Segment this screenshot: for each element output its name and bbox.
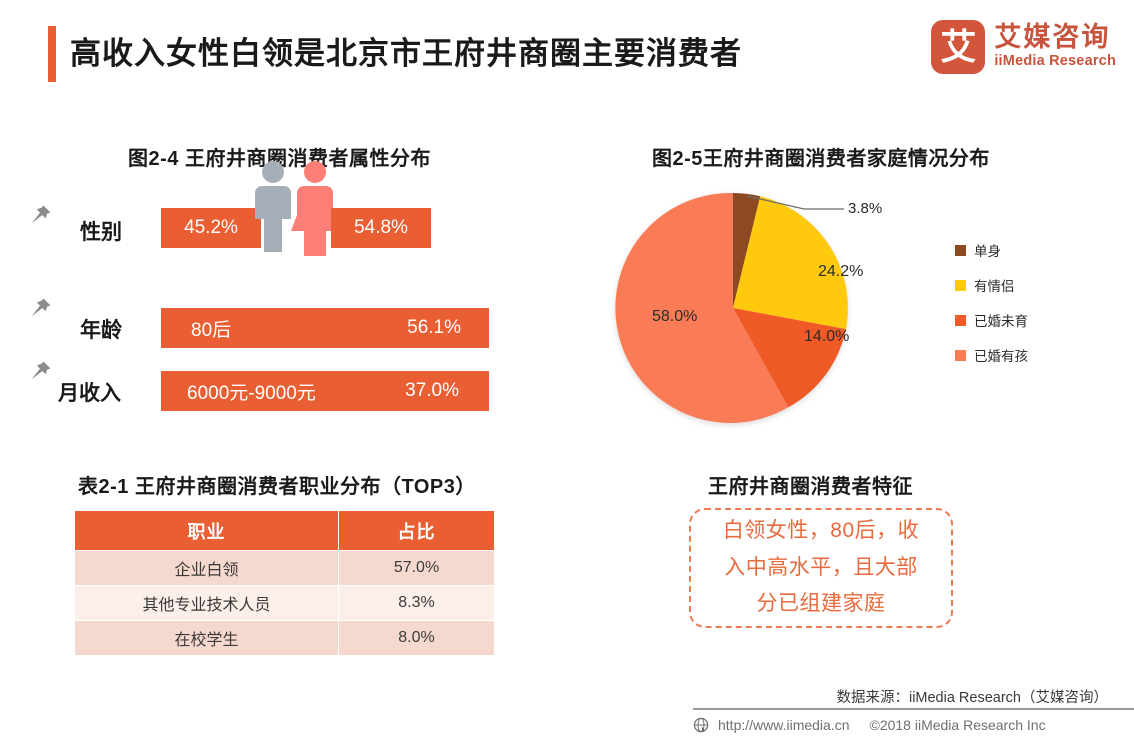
feature-line-2: 入中高水平，且大部 bbox=[723, 550, 919, 587]
attribute-label-income: 月收入 bbox=[58, 377, 121, 407]
logo-name-cn: 艾媒咨询 bbox=[994, 23, 1116, 53]
legend-item-married-no-kids: 已婚未育 bbox=[955, 310, 1028, 330]
consumer-feature-section: 王府井商圈消费者特征 白领女性，80后，收 入中高水平，且大部 分已组建家庭 bbox=[580, 462, 1134, 672]
cell-occupation: 企业白领 bbox=[75, 551, 339, 586]
cell-occupation: 其他专业技术人员 bbox=[75, 586, 339, 621]
brand-logo: 艾 艾媒咨询 iiMedia Research bbox=[931, 20, 1116, 74]
column-header-occupation: 职业 bbox=[75, 511, 339, 551]
gender-male-value: 45.2% bbox=[184, 217, 238, 239]
cell-occupation: 在校学生 bbox=[75, 621, 339, 656]
attribute-label-gender: 性别 bbox=[80, 216, 122, 246]
pie-value-married-no-kids: 14.0% bbox=[804, 328, 849, 346]
occupation-table-section: 表2-1 王府井商圈消费者职业分布（TOP3） 职业 占比 企业白领 57.0%… bbox=[0, 462, 560, 672]
feature-line-3: 分已组建家庭 bbox=[723, 586, 919, 623]
attribute-label-age: 年龄 bbox=[80, 314, 122, 344]
pushpin-icon bbox=[28, 202, 54, 228]
cell-share: 57.0% bbox=[339, 551, 495, 586]
legend-item-married-with-kids: 已婚有孩 bbox=[955, 345, 1028, 365]
legend-label: 已婚有孩 bbox=[974, 345, 1028, 365]
income-value-bar: 6000元-9000元 37.0% bbox=[161, 371, 489, 411]
logo-name-en: iiMedia Research bbox=[994, 53, 1116, 70]
legend-item-couple: 有情侣 bbox=[955, 275, 1028, 295]
gender-female-value-bar: 54.8% bbox=[331, 208, 431, 248]
table-row: 企业白领 57.0% bbox=[75, 551, 495, 586]
feature-callout-box: 白领女性，80后，收 入中高水平，且大部 分已组建家庭 bbox=[689, 508, 953, 628]
legend-label: 单身 bbox=[974, 240, 1001, 260]
pushpin-icon bbox=[28, 358, 54, 384]
logo-text: 艾媒咨询 iiMedia Research bbox=[994, 23, 1116, 70]
gender-female-value: 54.8% bbox=[354, 217, 408, 239]
column-header-share: 占比 bbox=[339, 511, 495, 551]
data-source-note: 数据来源：iiMedia Research（艾媒咨询） bbox=[836, 686, 1108, 707]
occupation-table-title: 表2-1 王府井商圈消费者职业分布（TOP3） bbox=[78, 470, 476, 499]
pie-value-married-with-kids: 58.0% bbox=[652, 308, 697, 326]
pie-chart-title: 图2-5王府井商圈消费者家庭情况分布 bbox=[652, 142, 990, 171]
legend-swatch-icon bbox=[955, 350, 966, 361]
pushpin-icon bbox=[28, 295, 54, 321]
consumer-attributes-section: 图2-4 王府井商圈消费者属性分布 性别 45.2% bbox=[0, 130, 560, 450]
legend-swatch-icon bbox=[955, 315, 966, 326]
pie-value-couple: 24.2% bbox=[818, 263, 863, 281]
pie-slices bbox=[615, 193, 848, 423]
legend-swatch-icon bbox=[955, 245, 966, 256]
cell-share: 8.0% bbox=[339, 621, 495, 656]
table-row: 其他专业技术人员 8.3% bbox=[75, 586, 495, 621]
footer-url[interactable]: http://www.iimedia.cn bbox=[718, 717, 850, 733]
gender-figures bbox=[253, 160, 337, 256]
table-row: 在校学生 8.0% bbox=[75, 621, 495, 656]
occupation-table: 职业 占比 企业白领 57.0% 其他专业技术人员 8.3% 在校学生 8.0% bbox=[74, 510, 495, 656]
male-figure-icon bbox=[255, 161, 291, 252]
legend-label: 有情侣 bbox=[974, 275, 1015, 295]
logo-mark-icon: 艾 bbox=[931, 20, 985, 74]
income-category: 6000元-9000元 bbox=[187, 378, 316, 405]
gender-male-value-bar: 45.2% bbox=[161, 208, 261, 248]
feature-line-1: 白领女性，80后，收 bbox=[723, 513, 919, 550]
legend-item-single: 单身 bbox=[955, 240, 1028, 260]
pie-value-single: 3.8% bbox=[848, 200, 882, 217]
legend-swatch-icon bbox=[955, 280, 966, 291]
pie-legend: 单身 有情侣 已婚未育 已婚有孩 bbox=[955, 240, 1028, 380]
page-header: 高收入女性白领是北京市王府井商圈主要消费者 艾 艾媒咨询 iiMedia Res… bbox=[0, 0, 1134, 108]
age-category: 80后 bbox=[191, 315, 231, 342]
pie-chart: 24.2% 14.0% 58.0% 3.8% bbox=[608, 178, 938, 438]
family-status-pie-section: 图2-5王府井商圈消费者家庭情况分布 24.2% bbox=[580, 130, 1134, 450]
legend-label: 已婚未育 bbox=[974, 310, 1028, 330]
footer-divider bbox=[693, 708, 1134, 710]
table-header-row: 职业 占比 bbox=[75, 511, 495, 551]
footer-bar: http://www.iimedia.cn ©2018 iiMedia Rese… bbox=[693, 713, 1134, 737]
title-accent-bar bbox=[48, 26, 56, 82]
footer-copyright: ©2018 iiMedia Research Inc bbox=[870, 717, 1046, 733]
age-value: 56.1% bbox=[407, 317, 461, 339]
feature-text: 白领女性，80后，收 入中高水平，且大部 分已组建家庭 bbox=[723, 513, 919, 623]
income-value: 37.0% bbox=[405, 380, 459, 402]
age-value-bar: 80后 56.1% bbox=[161, 308, 489, 348]
cell-share: 8.3% bbox=[339, 586, 495, 621]
feature-title: 王府井商圈消费者特征 bbox=[708, 470, 913, 499]
globe-cursor-icon bbox=[693, 717, 710, 734]
page-title: 高收入女性白领是北京市王府井商圈主要消费者 bbox=[70, 28, 742, 73]
